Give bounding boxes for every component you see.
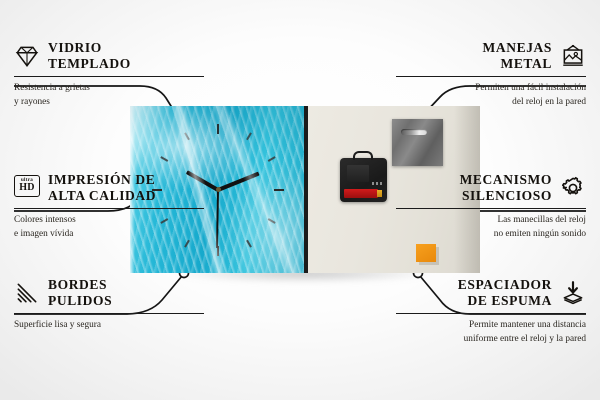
feature-divider — [396, 208, 586, 210]
feature-title: MANEJASMETAL — [483, 40, 552, 72]
feature-divider — [396, 313, 586, 315]
clock-center-pin — [216, 187, 221, 192]
badge-bottom-text: HD — [19, 183, 34, 193]
ultra-hd-badge-icon: ultra HD — [14, 175, 40, 201]
feature-description: Superficie lisa y segura — [14, 319, 204, 332]
feature-divider — [14, 313, 204, 315]
clock-tick — [246, 132, 252, 140]
feature-foam-spacer: ESPACIADORDE ESPUMA Permite mantener una… — [396, 277, 586, 346]
feature-divider — [14, 76, 204, 78]
battery — [344, 189, 378, 198]
clock-second-hand — [216, 189, 219, 247]
feature-description: Resistencia a grietasy rayones — [14, 82, 204, 108]
feature-description: Las manecillas del relojno emiten ningún… — [396, 214, 586, 240]
clock-tick — [246, 239, 252, 247]
metal-hanger-plate — [392, 119, 443, 166]
feature-silent-mechanism: MECANISMOSILENCIOSO Las manecillas del r… — [396, 172, 586, 241]
feature-title: BORDESPULIDOS — [48, 277, 112, 309]
feature-description: Permiten una fácil instalacióndel reloj … — [396, 82, 586, 108]
press-down-pad-icon — [560, 280, 586, 306]
clock-mechanism-box — [340, 158, 387, 202]
clock-tick — [184, 132, 190, 140]
feature-divider — [396, 76, 586, 78]
clock-tick — [217, 124, 219, 134]
mechanism-hanger-loop — [353, 151, 373, 160]
feature-title: ESPACIADORDE ESPUMA — [458, 277, 552, 309]
mechanism-housing — [347, 165, 369, 182]
foam-spacer-pad — [416, 244, 436, 262]
panel-dark-edge — [304, 106, 308, 273]
hanger-slot — [401, 129, 427, 135]
clock-tick — [268, 218, 276, 224]
feature-description: Permite mantener una distanciauniforme e… — [396, 319, 586, 345]
clock-tick — [268, 156, 276, 162]
clock-tick — [274, 189, 284, 191]
clock-tick — [217, 246, 219, 256]
mechanism-label — [372, 182, 382, 185]
feature-hd-print: ultra HD IMPRESIÓN DEALTA CALIDAD Colore… — [14, 172, 204, 241]
feature-title: VIDRIOTEMPLADO — [48, 40, 131, 72]
infographic-canvas: VIDRIOTEMPLADO Resistencia a grietasy ra… — [0, 0, 600, 400]
clock-tick — [160, 156, 168, 162]
feature-divider — [14, 208, 204, 210]
feature-title: MECANISMOSILENCIOSO — [460, 172, 552, 204]
clock-minute-hand — [217, 171, 259, 191]
beveled-edge-icon — [14, 280, 40, 306]
feature-title: IMPRESIÓN DEALTA CALIDAD — [48, 172, 156, 204]
feature-description: Colores intensose imagen vívida — [14, 214, 204, 240]
gear-icon — [560, 175, 586, 201]
feature-polished-edges: BORDESPULIDOS Superficie lisa y segura — [14, 277, 204, 333]
hanging-frame-icon — [560, 43, 586, 69]
feature-metal-handles: MANEJASMETAL Permiten una fácil instalac… — [396, 40, 586, 109]
diamond-icon — [14, 43, 40, 69]
feature-tempered-glass: VIDRIOTEMPLADO Resistencia a grietasy ra… — [14, 40, 204, 109]
